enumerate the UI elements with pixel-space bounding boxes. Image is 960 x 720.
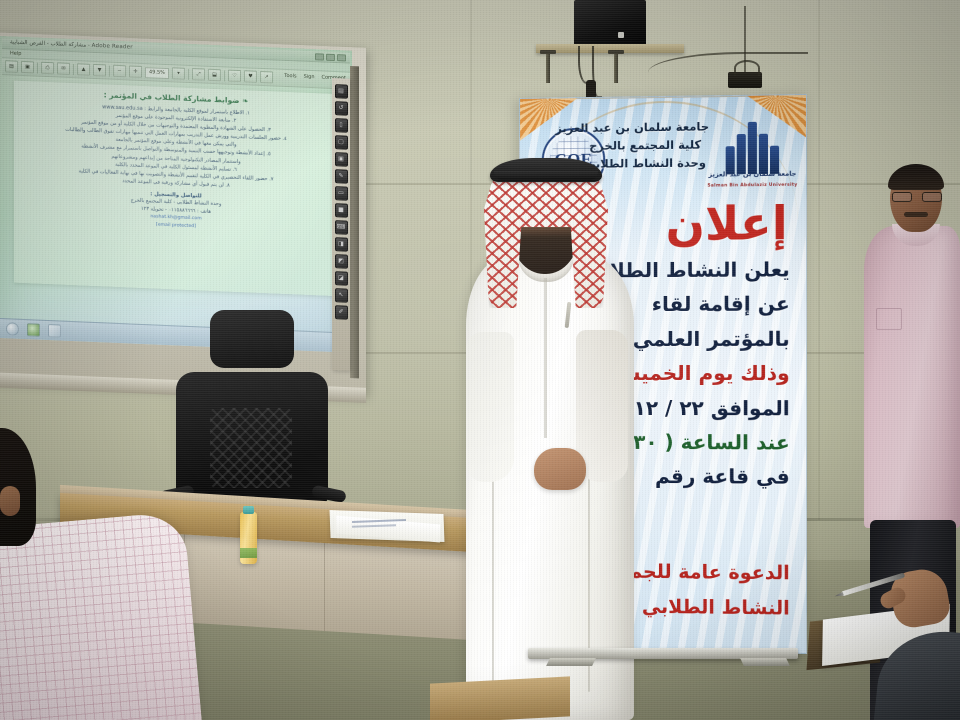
pink-shirt xyxy=(864,226,960,528)
toolbar-separator xyxy=(188,68,189,79)
checkered-shirt xyxy=(0,511,204,720)
fit-width-icon[interactable]: ⬓ xyxy=(208,69,221,82)
keyboard-tool-icon[interactable]: ⌨ xyxy=(335,220,348,235)
fit-page-icon[interactable]: ⤢ xyxy=(192,68,205,81)
close-icon[interactable] xyxy=(337,54,346,61)
maximize-icon[interactable] xyxy=(326,54,335,61)
zoom-out-icon[interactable]: − xyxy=(113,65,126,78)
menu-help[interactable]: Help xyxy=(10,50,21,56)
loudspeaker-led xyxy=(618,32,624,38)
pen-tool-icon[interactable]: ✎ xyxy=(335,169,348,184)
select-tool-icon[interactable]: ▤ xyxy=(335,84,348,99)
toolbar-separator xyxy=(109,65,110,76)
save-icon[interactable]: ▣ xyxy=(21,61,34,74)
presenter-person xyxy=(448,152,638,720)
university-logo: جامعة سلمان بن عبد العزيز Salman Bin Abd… xyxy=(715,121,790,192)
shelf-bracket-foot xyxy=(608,50,624,54)
photo-scene: مشاركة الطلاب - الفرص الشبابية - Adobe R… xyxy=(0,0,960,720)
window-icon[interactable] xyxy=(48,324,61,338)
shelf-bracket xyxy=(614,53,618,83)
garment-fold xyxy=(492,452,494,692)
shelf-bracket-foot xyxy=(540,50,556,54)
tower-glyph-icon xyxy=(726,122,779,175)
chair-quilting xyxy=(210,408,292,488)
window-title: مشاركة الطلاب - الفرص الشبابية - Adobe R… xyxy=(10,39,133,50)
email-icon[interactable]: ✉ xyxy=(57,62,70,75)
clasped-hands xyxy=(534,448,586,490)
open-file-icon[interactable]: ▤ xyxy=(5,60,18,73)
bottle-cap xyxy=(243,506,254,514)
university-logo-caption-en: Salman Bin Abdulaziz University xyxy=(707,183,797,189)
igal-headband xyxy=(490,158,602,182)
speaker-cable xyxy=(578,46,592,84)
toolbar-separator xyxy=(73,64,74,75)
foreground-table xyxy=(430,676,570,720)
highlight-icon[interactable]: ♡ xyxy=(228,70,241,83)
next-page-icon[interactable]: ▼ xyxy=(93,64,106,77)
start-orb-icon[interactable] xyxy=(6,322,19,336)
pointer-icon[interactable]: ↗ xyxy=(260,71,273,84)
color-tool-icon[interactable]: ◩ xyxy=(335,254,348,269)
banner-foot xyxy=(546,658,596,666)
whiteboard-edge xyxy=(350,66,359,378)
eraser-tool-icon[interactable]: ▭ xyxy=(335,186,348,201)
projected-screen[interactable]: مشاركة الطلاب - الفرص الشبابية - Adobe R… xyxy=(0,36,352,353)
thobe-placket xyxy=(544,278,547,438)
new-page-tool-icon[interactable]: ▢ xyxy=(335,135,348,150)
shirt-pocket xyxy=(876,308,902,330)
banner-foot xyxy=(740,658,790,666)
toolbar-separator xyxy=(224,70,225,81)
university-name: جامعة سلمان بن عبد العزيز xyxy=(581,118,709,137)
left-sleeve xyxy=(466,332,514,482)
zoom-level-field[interactable]: 49.5% xyxy=(145,67,169,79)
capture-tool-icon[interactable]: ◨ xyxy=(335,237,348,252)
sign-button[interactable]: Sign xyxy=(304,74,315,80)
banner-headline: إعلان xyxy=(666,200,788,247)
university-logo-caption-ar: جامعة سلمان بن عبد العزيز xyxy=(708,170,796,179)
toolbar-separator xyxy=(37,62,38,73)
browser-icon[interactable] xyxy=(27,323,40,337)
check-icon[interactable]: ♥ xyxy=(244,70,257,83)
eyeglasses-icon xyxy=(892,192,942,202)
chair-headrest xyxy=(210,310,294,368)
highlight-tool-icon[interactable]: ◪ xyxy=(335,271,348,286)
ear xyxy=(0,486,20,516)
pdf-page[interactable]: ❧ ضوابط مشاركة الطلاب في المؤتمر : ١. ال… xyxy=(14,81,338,297)
minimize-icon[interactable] xyxy=(315,53,324,60)
undo-tool-icon[interactable]: ↺ xyxy=(335,101,348,116)
shape-tool-icon[interactable]: ■ xyxy=(335,203,348,218)
wire-clip xyxy=(728,72,762,88)
tools-button[interactable]: Tools xyxy=(284,73,296,80)
desk-panel-seam xyxy=(324,539,325,631)
moustache xyxy=(904,212,928,217)
previous-page-icon[interactable]: ▲ xyxy=(77,63,90,76)
zoom-in-icon[interactable]: ✛ xyxy=(129,65,142,78)
foreground-note-taker xyxy=(832,548,960,720)
hair xyxy=(888,164,944,190)
print-icon[interactable]: ⎙ xyxy=(41,62,54,75)
wall-seam xyxy=(818,0,820,520)
page-tool-icon[interactable]: ▯ xyxy=(335,118,348,133)
chevron-down-icon[interactable]: ▾ xyxy=(172,67,185,80)
delete-tool-icon[interactable]: ▣ xyxy=(335,152,348,167)
window-controls[interactable] xyxy=(315,53,346,61)
shelf-bracket xyxy=(546,53,550,83)
pointer-tool-icon[interactable]: ↖ xyxy=(335,288,348,303)
foreground-attendee-left xyxy=(0,428,150,720)
loudspeaker xyxy=(574,0,646,46)
bottle-label xyxy=(240,548,257,558)
